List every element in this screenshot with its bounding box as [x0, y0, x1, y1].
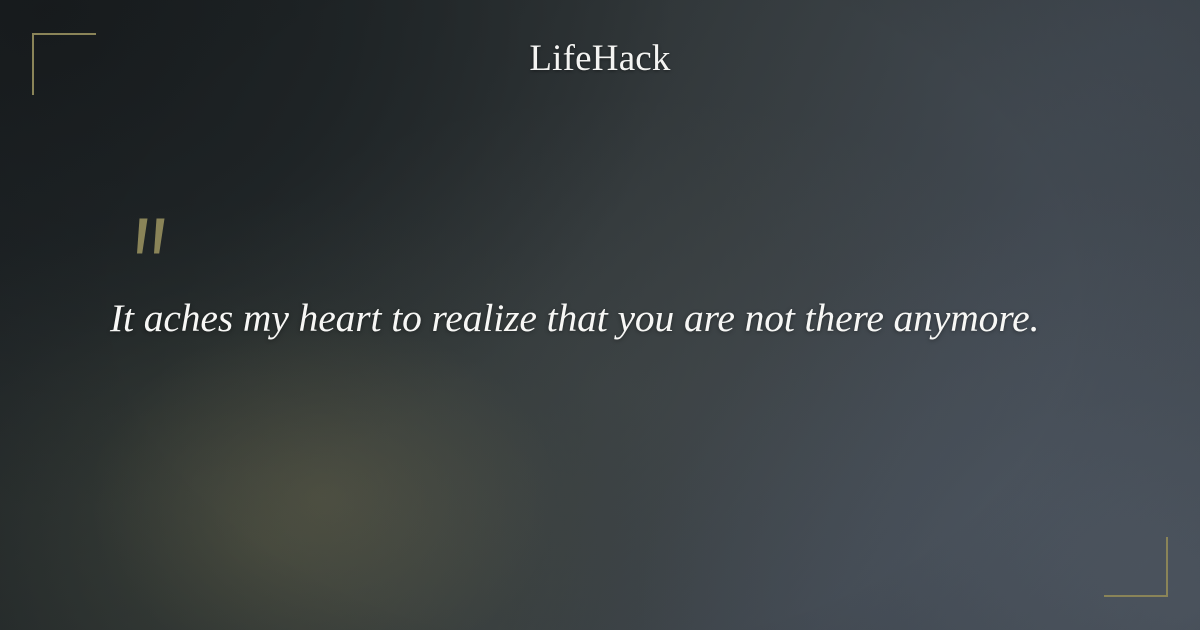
corner-bracket-bottom-right-vertical: [1166, 537, 1168, 597]
corner-bracket-bottom-right-icon: [1104, 537, 1168, 597]
brand-logo: LifeHack: [0, 40, 1200, 77]
corner-bracket-bottom-right-horizontal: [1104, 595, 1168, 597]
quote-text: It aches my heart to realize that you ar…: [110, 294, 1100, 344]
quote-card: LifeHack It aches my heart to realize th…: [0, 0, 1200, 630]
double-quote-mark-icon: [130, 216, 176, 272]
corner-bracket-top-left-horizontal: [32, 33, 96, 35]
